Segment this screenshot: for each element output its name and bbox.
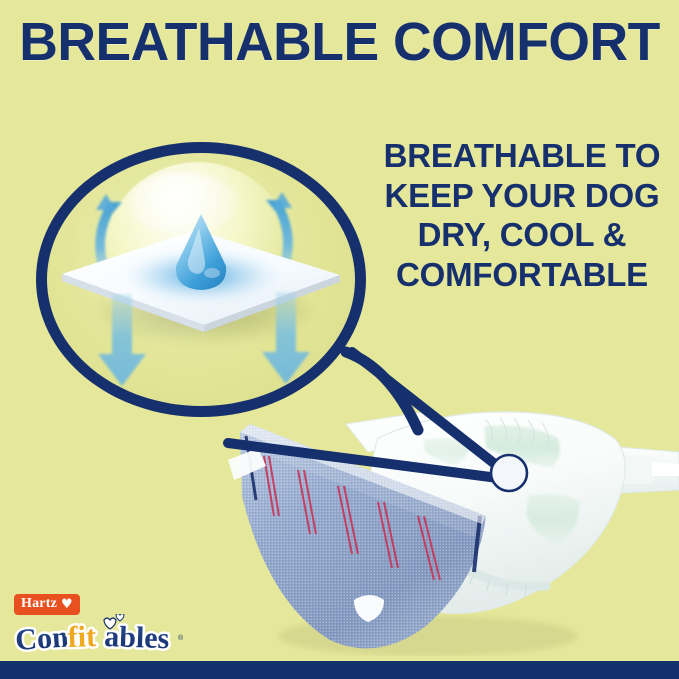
comfitables-wordmark: Com fit ables ® <box>12 614 192 656</box>
hartz-badge: Hartz ♥ <box>14 594 80 615</box>
water-droplet <box>176 214 226 290</box>
trademark-symbol: ® <box>178 634 184 642</box>
breathability-diagram-svg <box>36 142 366 417</box>
tagline-line-2: KEEP YOUR DOG <box>372 176 672 216</box>
hartz-wordmark: Hartz <box>21 597 57 611</box>
heart-icon: ♥ <box>61 598 73 611</box>
tagline-block: BREATHABLE TO KEEP YOUR DOG DRY, COOL & … <box>372 136 672 294</box>
magnifier-handle <box>336 334 456 454</box>
magnifier-callout <box>36 142 366 417</box>
tagline-line-3: DRY, COOL & <box>372 215 672 255</box>
product-feature-banner: BREATHABLE COMFORT BREATHABLE TO KEEP YO… <box>0 0 679 679</box>
comfitables-part-2: fit <box>67 620 96 654</box>
tagline-line-1: BREATHABLE TO <box>372 136 672 176</box>
comfitables-part-3: ables <box>104 620 170 655</box>
page-title: BREATHABLE COMFORT <box>3 14 675 71</box>
bottom-accent-bar <box>0 661 679 679</box>
brand-logo: Hartz ♥ Com fit ables ® <box>12 594 192 656</box>
tagline-line-4: COMFORTABLE <box>372 255 672 295</box>
